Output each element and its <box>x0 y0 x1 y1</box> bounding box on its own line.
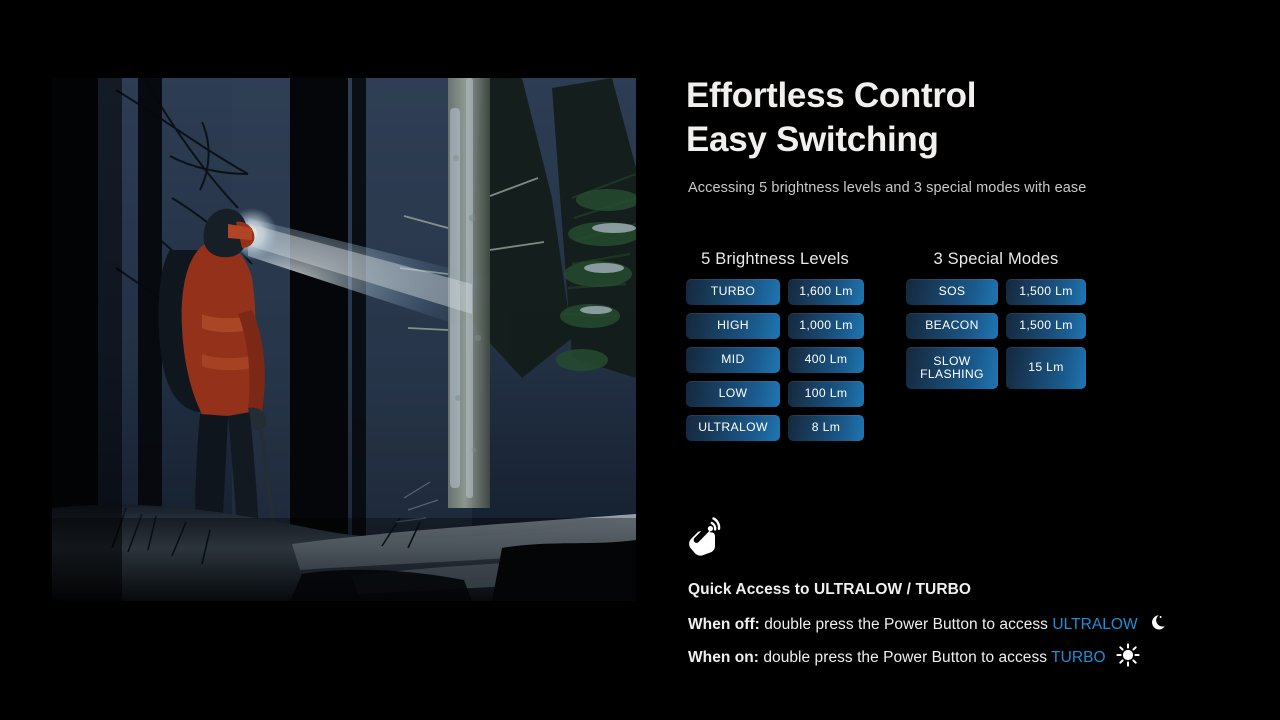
when-off-text: double press the Power Button to access <box>760 616 1052 633</box>
special-mode-beacon[interactable]: BEACON <box>906 313 998 339</box>
brightness-lumens-ultralow[interactable]: 8 Lm <box>788 415 864 441</box>
when-off-mode: ULTRALOW <box>1052 616 1137 633</box>
brightness-mode-mid[interactable]: MID <box>686 347 780 373</box>
page-subtitle: Accessing 5 brightness levels and 3 spec… <box>688 180 1086 196</box>
quick-access-heading: Quick Access to ULTRALOW / TURBO <box>688 581 971 599</box>
brightness-lumens-mid[interactable]: 400 Lm <box>788 347 864 373</box>
special-modes-table: 3 Special Modes SOS 1,500 Lm BEACON 1,50… <box>906 250 1086 397</box>
table-row: MID 400 Lm <box>686 347 864 373</box>
table-row: BEACON 1,500 Lm <box>906 313 1086 339</box>
special-lumens-sos[interactable]: 1,500 Lm <box>1006 279 1086 305</box>
content-column: Effortless Control Easy Switching Access… <box>686 0 1266 720</box>
product-feature-slide: Effortless Control Easy Switching Access… <box>0 0 1280 720</box>
table-row: LOW 100 Lm <box>686 381 864 407</box>
sun-icon <box>1116 643 1140 672</box>
brightness-mode-low[interactable]: LOW <box>686 381 780 407</box>
table-row: ULTRALOW 8 Lm <box>686 415 864 441</box>
when-on-line: When on: double press the Power Button t… <box>688 643 1140 672</box>
brightness-mode-ultralow[interactable]: ULTRALOW <box>686 415 780 441</box>
brightness-levels-title: 5 Brightness Levels <box>686 250 864 269</box>
special-lumens-beacon[interactable]: 1,500 Lm <box>1006 313 1086 339</box>
when-off-label: When off: <box>688 616 760 633</box>
page-title-line1: Effortless Control <box>686 74 976 118</box>
table-row: HIGH 1,000 Lm <box>686 313 864 339</box>
when-on-text: double press the Power Button to access <box>759 649 1051 666</box>
table-row: TURBO 1,600 Lm <box>686 279 864 305</box>
special-modes-title: 3 Special Modes <box>906 250 1086 269</box>
double-tap-hand-icon <box>682 512 730 560</box>
when-on-mode: TURBO <box>1051 649 1106 666</box>
brightness-mode-high[interactable]: HIGH <box>686 313 780 339</box>
page-title-line2: Easy Switching <box>686 118 939 162</box>
brightness-mode-turbo[interactable]: TURBO <box>686 279 780 305</box>
special-mode-slow-flashing[interactable]: SLOW FLASHING <box>906 347 998 389</box>
when-on-label: When on: <box>688 649 759 666</box>
table-row: SLOW FLASHING 15 Lm <box>906 347 1086 389</box>
brightness-lumens-low[interactable]: 100 Lm <box>788 381 864 407</box>
special-mode-sos[interactable]: SOS <box>906 279 998 305</box>
table-row: SOS 1,500 Lm <box>906 279 1086 305</box>
brightness-lumens-high[interactable]: 1,000 Lm <box>788 313 864 339</box>
moon-icon <box>1148 612 1170 639</box>
special-lumens-slow-flashing[interactable]: 15 Lm <box>1006 347 1086 389</box>
when-off-line: When off: double press the Power Button … <box>688 612 1170 639</box>
brightness-lumens-turbo[interactable]: 1,600 Lm <box>788 279 864 305</box>
hero-photo-night-hiker <box>52 78 636 601</box>
brightness-levels-table: 5 Brightness Levels TURBO 1,600 Lm HIGH … <box>686 250 864 449</box>
